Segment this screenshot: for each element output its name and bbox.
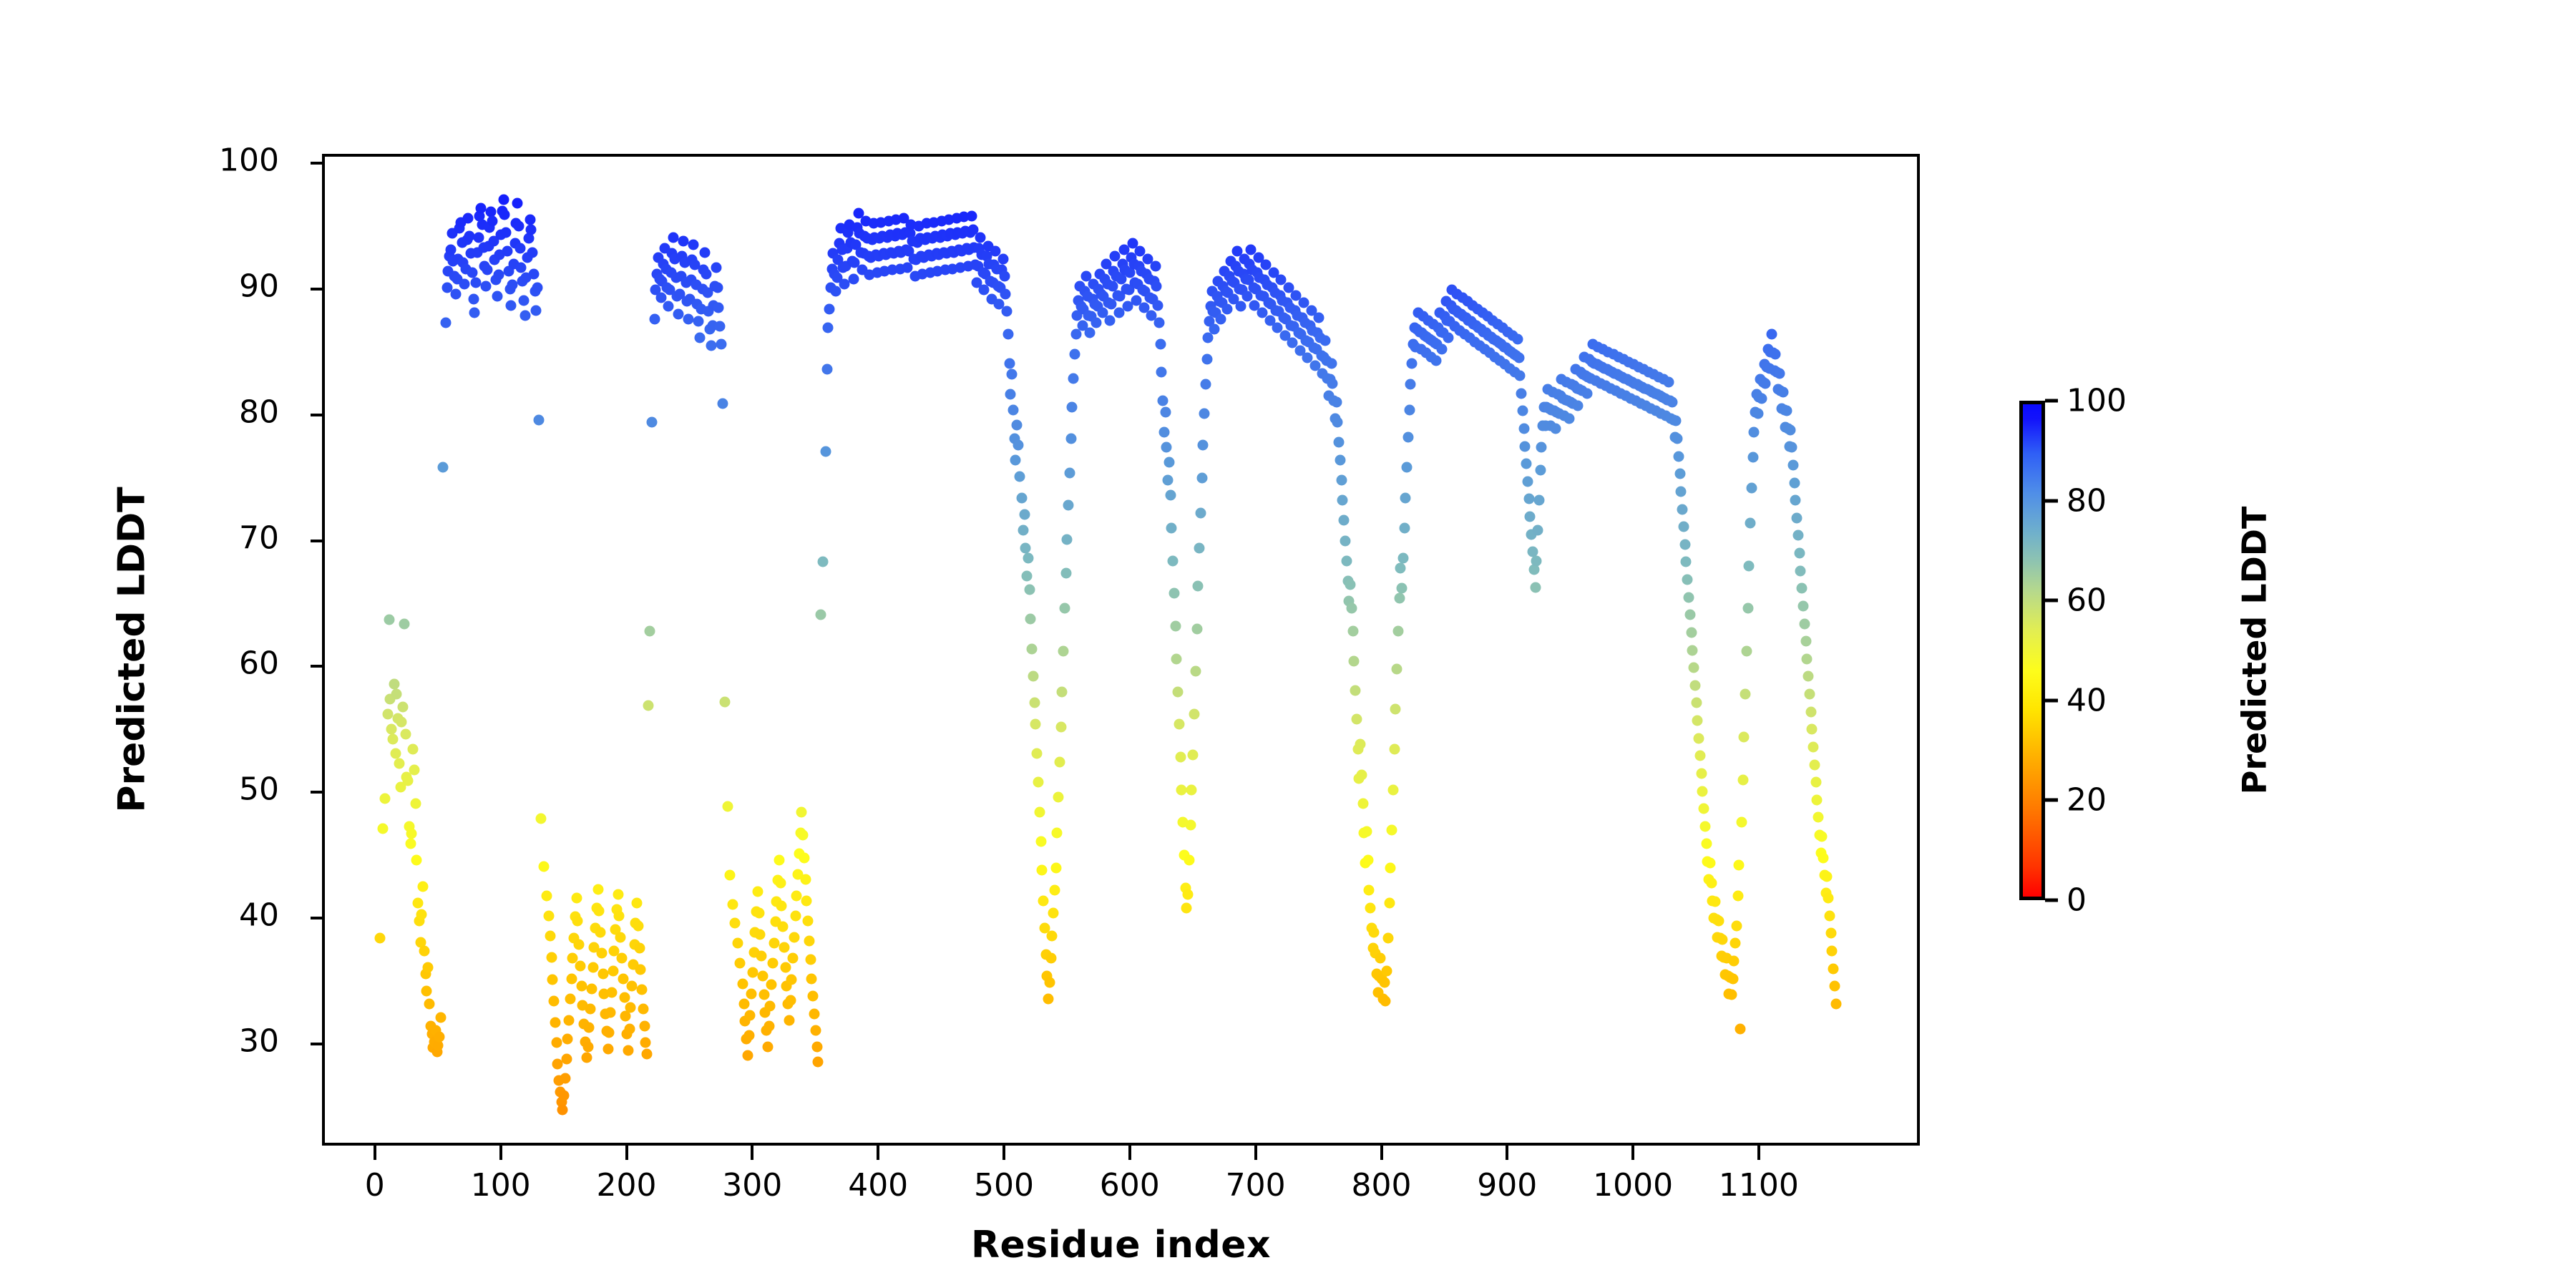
scatter-point	[1732, 890, 1743, 901]
scatter-point	[1105, 315, 1116, 326]
scatter-point	[1025, 613, 1036, 624]
scatter-point	[1797, 583, 1807, 594]
x-tick-label: 0	[365, 1167, 385, 1204]
scatter-point	[1699, 821, 1710, 831]
scatter-point	[409, 764, 419, 775]
y-tick-mark	[311, 162, 325, 165]
scatter-point	[1699, 804, 1709, 814]
scatter-point	[1351, 714, 1362, 725]
scatter-point	[1022, 570, 1033, 581]
colorbar-tick-mark	[2045, 799, 2058, 802]
scatter-point	[492, 291, 502, 302]
scatter-point	[1014, 471, 1025, 482]
scatter-point	[766, 980, 777, 990]
scatter-point	[727, 899, 738, 909]
scatter-point	[1163, 457, 1174, 468]
scatter-point	[1726, 990, 1737, 1000]
scatter-point	[1395, 563, 1406, 574]
scatter-point	[1818, 852, 1829, 863]
scatter-point	[532, 282, 543, 293]
scatter-point	[1581, 388, 1592, 399]
scatter-point	[1741, 646, 1752, 657]
scatter-point	[639, 1021, 650, 1032]
scatter-point	[506, 300, 517, 311]
scatter-point	[471, 277, 482, 288]
scatter-point	[1573, 401, 1584, 411]
scatter-point	[1158, 427, 1169, 438]
scatter-point	[1052, 827, 1063, 838]
scatter-point	[435, 1013, 446, 1023]
scatter-point	[830, 286, 841, 297]
colorbar-title-text: Predicted LDDT	[2235, 507, 2273, 795]
scatter-point	[1045, 953, 1056, 964]
scatter-point	[1805, 706, 1816, 717]
x-tick-mark	[499, 1146, 502, 1160]
scatter-point	[1397, 553, 1408, 564]
scatter-point	[450, 288, 461, 299]
colorbar-tick-label: 80	[2067, 482, 2107, 519]
scatter-point	[790, 910, 801, 921]
scatter-point	[411, 855, 422, 866]
scatter-point	[1774, 368, 1785, 379]
scatter-point	[419, 945, 429, 956]
scatter-point	[1161, 442, 1172, 453]
scatter-point	[1709, 897, 1720, 907]
scatter-point	[1069, 349, 1080, 360]
y-tick-label: 70	[239, 519, 279, 556]
scatter-point	[1525, 512, 1536, 522]
x-tick-label: 300	[722, 1167, 782, 1204]
scatter-point	[803, 915, 814, 926]
scatter-point	[774, 855, 784, 866]
scatter-point	[1792, 512, 1802, 523]
scatter-point	[627, 981, 638, 992]
scatter-point	[1327, 378, 1338, 389]
scatter-point	[1387, 825, 1397, 836]
scatter-point	[623, 1045, 633, 1055]
scatter-point	[565, 993, 575, 1004]
scatter-point	[1194, 543, 1205, 554]
scatter-point	[649, 313, 660, 324]
scatter-point	[1188, 749, 1199, 760]
scatter-point	[516, 262, 527, 273]
scatter-point	[533, 414, 544, 425]
scatter-point	[1173, 686, 1184, 697]
scatter-point	[785, 995, 796, 1005]
scatter-point	[1382, 933, 1393, 944]
x-tick-label: 200	[597, 1167, 657, 1204]
scatter-point	[1018, 525, 1028, 536]
scatter-point	[1795, 565, 1806, 576]
scatter-point	[786, 975, 797, 985]
scatter-point	[757, 971, 768, 982]
scatter-point	[1550, 423, 1561, 434]
scatter-point	[1521, 459, 1532, 469]
scatter-point	[1679, 539, 1690, 550]
scatter-point	[1334, 437, 1345, 448]
y-tick-mark	[311, 414, 325, 416]
scatter-point	[1361, 826, 1372, 836]
scatter-point	[1035, 836, 1046, 847]
scatter-point	[614, 910, 625, 921]
scatter-point	[1533, 525, 1543, 536]
scatter-point	[1379, 977, 1390, 987]
scatter-point	[1335, 454, 1345, 465]
scatter-point	[1829, 981, 1840, 992]
y-tick-mark	[311, 1043, 325, 1045]
scatter-point	[594, 905, 605, 916]
scatter-point	[695, 333, 706, 343]
scatter-point	[632, 898, 643, 909]
scatter-point	[1065, 434, 1076, 444]
scatter-point	[1000, 288, 1011, 299]
scatter-point	[1176, 784, 1187, 795]
scatter-point	[767, 958, 778, 969]
scatter-point	[1199, 408, 1210, 419]
scatter-point	[551, 1038, 562, 1048]
colorbar-title: Predicted LDDT	[2233, 401, 2275, 900]
scatter-point	[586, 983, 597, 994]
scatter-point	[608, 966, 618, 977]
scatter-point	[1151, 281, 1162, 292]
scatter-point	[791, 890, 802, 901]
scatter-point	[1714, 915, 1724, 926]
scatter-point	[720, 696, 731, 707]
scatter-point	[606, 987, 617, 997]
scatter-point	[730, 918, 741, 929]
scatter-point	[1221, 303, 1232, 314]
scatter-point	[597, 968, 608, 979]
scatter-point	[1017, 492, 1028, 503]
scatter-point	[544, 910, 555, 921]
scatter-point	[634, 943, 645, 954]
scatter-point	[487, 215, 497, 226]
scatter-point	[663, 301, 674, 312]
scatter-point	[1189, 709, 1200, 720]
scatter-point	[755, 930, 766, 940]
scatter-point	[1059, 603, 1070, 614]
scatter-point	[1163, 475, 1174, 486]
scatter-point	[1070, 329, 1081, 340]
y-tick-label: 30	[239, 1023, 279, 1060]
scatter-point	[1731, 920, 1742, 931]
scatter-point	[796, 807, 807, 818]
scatter-point	[713, 303, 724, 313]
scatter-point	[745, 1010, 756, 1020]
scatter-point	[1735, 1023, 1746, 1034]
scatter-point	[1175, 752, 1186, 763]
scatter-point	[574, 940, 585, 950]
x-tick-label: 1000	[1593, 1167, 1673, 1204]
scatter-point	[1717, 935, 1728, 945]
scatter-point	[1068, 373, 1079, 384]
scatter-point	[575, 961, 585, 972]
scatter-point	[1365, 903, 1376, 914]
scatter-point	[1807, 724, 1818, 735]
scatter-point	[613, 889, 623, 899]
scatter-point	[525, 214, 535, 225]
scatter-point	[386, 724, 397, 735]
scatter-point	[1340, 535, 1351, 546]
scatter-point	[635, 965, 646, 975]
scatter-point	[999, 271, 1010, 282]
scatter-point	[1737, 774, 1748, 785]
scatter-point	[498, 194, 509, 205]
y-tick-mark	[311, 540, 325, 542]
scatter-point	[560, 1073, 570, 1083]
colorbar-gradient	[2019, 401, 2045, 900]
scatter-point	[424, 998, 434, 1009]
scatter-point	[398, 701, 409, 712]
plot-area	[322, 154, 1920, 1146]
scatter-point	[808, 991, 819, 1002]
scatter-point	[1785, 424, 1796, 435]
scatter-point	[1150, 261, 1161, 272]
scatter-point	[1382, 966, 1392, 977]
scatter-point	[519, 310, 530, 321]
scatter-point	[584, 1023, 595, 1033]
scatter-point	[513, 220, 524, 231]
scatter-point	[1516, 388, 1527, 399]
scatter-point	[1389, 744, 1400, 755]
scatter-point	[1200, 379, 1211, 390]
scatter-point	[528, 268, 539, 279]
scatter-point	[394, 758, 404, 769]
scatter-point	[375, 933, 386, 944]
scatter-point	[547, 975, 558, 985]
scatter-point	[643, 700, 653, 711]
x-tick-mark	[625, 1146, 628, 1160]
scatter-point	[688, 240, 699, 250]
scatter-point	[778, 922, 789, 932]
scatter-points-layer	[325, 157, 1917, 1143]
scatter-point	[605, 1008, 616, 1018]
scatter-point	[1533, 495, 1544, 506]
scatter-point	[1404, 404, 1415, 415]
scatter-point	[1369, 927, 1380, 937]
scatter-point	[1055, 721, 1066, 732]
scatter-point	[1019, 509, 1030, 519]
scatter-point	[1033, 777, 1043, 788]
scatter-point	[789, 932, 799, 942]
scatter-point	[798, 830, 809, 841]
scatter-point	[769, 938, 779, 949]
colorbar-tick-mark	[2045, 399, 2058, 403]
scatter-point	[683, 313, 694, 324]
scatter-point	[587, 962, 598, 972]
scatter-point	[644, 626, 655, 637]
scatter-point	[1678, 522, 1689, 532]
scatter-point	[405, 839, 416, 849]
scatter-point	[746, 988, 757, 999]
scatter-point	[459, 278, 470, 289]
scatter-point	[1049, 885, 1060, 896]
scatter-point	[1155, 339, 1166, 350]
scatter-point	[711, 262, 721, 273]
scatter-point	[408, 744, 419, 755]
scatter-point	[1682, 575, 1693, 585]
scatter-point	[1394, 593, 1405, 604]
scatter-point	[473, 232, 484, 243]
scatter-point	[1057, 686, 1068, 697]
scatter-point	[776, 900, 787, 911]
scatter-point	[735, 958, 746, 969]
scatter-point	[1043, 993, 1054, 1004]
scatter-point	[1407, 358, 1418, 369]
scatter-point	[1740, 689, 1751, 700]
scatter-point	[1686, 627, 1697, 638]
scatter-point	[1004, 358, 1015, 369]
scatter-point	[1767, 329, 1777, 340]
scatter-point	[805, 955, 816, 965]
scatter-point	[581, 1053, 592, 1063]
scatter-point	[1790, 495, 1801, 506]
scatter-point	[1158, 396, 1169, 406]
scatter-point	[1028, 671, 1038, 682]
scatter-point	[604, 1028, 615, 1038]
scatter-point	[722, 801, 733, 811]
colorbar-tick-label: 20	[2067, 782, 2107, 819]
scatter-point	[1513, 353, 1524, 364]
scatter-point	[1730, 938, 1741, 949]
scatter-point	[1689, 663, 1699, 673]
scatter-point	[784, 1015, 794, 1025]
scatter-point	[811, 1041, 822, 1052]
scatter-point	[813, 1056, 824, 1067]
scatter-point	[738, 998, 749, 1009]
scatter-point	[1794, 548, 1805, 559]
scatter-point	[1822, 872, 1833, 882]
scatter-point	[406, 829, 417, 839]
scatter-point	[536, 814, 547, 824]
y-tick-mark	[311, 288, 325, 291]
scatter-point	[1062, 534, 1073, 545]
scatter-point	[1817, 831, 1828, 841]
scatter-point	[788, 953, 799, 964]
scatter-point	[1523, 494, 1534, 504]
y-tick-label: 100	[219, 142, 279, 178]
scatter-point	[1020, 543, 1031, 554]
scatter-point	[1153, 300, 1163, 311]
scatter-point	[824, 303, 835, 314]
scatter-point	[1392, 663, 1402, 674]
scatter-point	[1012, 419, 1023, 430]
scatter-point	[1677, 504, 1688, 514]
scatter-point	[410, 799, 421, 809]
scatter-point	[815, 610, 826, 620]
scatter-point	[1184, 855, 1194, 866]
scatter-point	[823, 323, 834, 333]
scatter-point	[592, 884, 603, 894]
scatter-point	[1198, 439, 1209, 450]
scatter-point	[1380, 996, 1391, 1007]
colorbar-tick-label: 60	[2067, 582, 2107, 619]
scatter-point	[482, 265, 492, 275]
scatter-point	[1156, 366, 1167, 377]
scatter-point	[647, 417, 658, 428]
scatter-point	[1812, 794, 1823, 805]
scatter-point	[1215, 313, 1226, 324]
x-tick-mark	[1506, 1146, 1508, 1160]
x-tick-mark	[1128, 1146, 1131, 1160]
scatter-point	[1181, 903, 1192, 914]
scatter-point	[559, 1091, 570, 1101]
scatter-point	[1034, 807, 1045, 818]
scatter-point	[1745, 517, 1756, 528]
scatter-point	[1053, 792, 1064, 803]
colorbar-tick-label: 40	[2067, 682, 2107, 718]
scatter-point	[1337, 495, 1348, 506]
y-tick-label: 90	[239, 268, 279, 304]
scatter-point	[737, 978, 748, 989]
scatter-point	[1002, 329, 1013, 340]
scatter-point	[732, 938, 743, 949]
x-tick-mark	[1002, 1146, 1005, 1160]
scatter-point	[804, 935, 814, 946]
scatter-point	[1803, 671, 1814, 682]
scatter-point	[1171, 653, 1182, 664]
scatter-point	[779, 942, 789, 952]
scatter-point	[1777, 386, 1788, 397]
scatter-point	[1824, 910, 1835, 921]
scatter-point	[1005, 389, 1016, 400]
scatter-point	[1190, 666, 1201, 677]
scatter-point	[550, 1018, 560, 1028]
scatter-point	[801, 895, 812, 906]
scatter-point	[1007, 369, 1018, 380]
y-tick-label: 50	[239, 771, 279, 808]
scatter-point	[1038, 895, 1049, 906]
scatter-point	[799, 852, 809, 863]
scatter-point	[1676, 486, 1687, 497]
scatter-point	[390, 748, 401, 758]
scatter-point	[1830, 998, 1841, 1009]
scatter-point	[762, 1041, 773, 1052]
scatter-point	[1749, 427, 1760, 438]
colorbar: 020406080100	[2019, 401, 2045, 900]
scatter-point	[499, 209, 510, 220]
scatter-point	[468, 293, 479, 304]
scatter-point	[566, 973, 577, 984]
scatter-point	[1048, 908, 1059, 919]
scatter-point	[1405, 379, 1416, 390]
scatter-point	[1672, 434, 1683, 444]
scatter-point	[1392, 626, 1403, 637]
scatter-point	[637, 985, 648, 995]
scatter-point	[576, 981, 587, 992]
x-tick-label: 800	[1352, 1167, 1412, 1204]
scatter-point	[1520, 441, 1531, 452]
scatter-point	[440, 318, 451, 328]
scatter-point	[1166, 522, 1177, 533]
scatter-point	[1357, 799, 1368, 809]
scatter-point	[624, 1023, 635, 1034]
scatter-point	[715, 321, 726, 332]
scatter-point	[1384, 898, 1395, 909]
scatter-point	[1671, 416, 1682, 426]
colorbar-tick-mark	[2045, 899, 2058, 902]
scatter-point	[400, 729, 411, 740]
scatter-point	[1029, 698, 1040, 708]
scatter-point	[1169, 588, 1179, 599]
scatter-point	[716, 339, 726, 350]
scatter-point	[413, 898, 424, 909]
scatter-point	[531, 305, 542, 316]
scatter-point	[1341, 555, 1352, 566]
scatter-point	[763, 1021, 774, 1032]
x-tick-mark	[751, 1146, 753, 1160]
scatter-point	[1165, 490, 1176, 501]
